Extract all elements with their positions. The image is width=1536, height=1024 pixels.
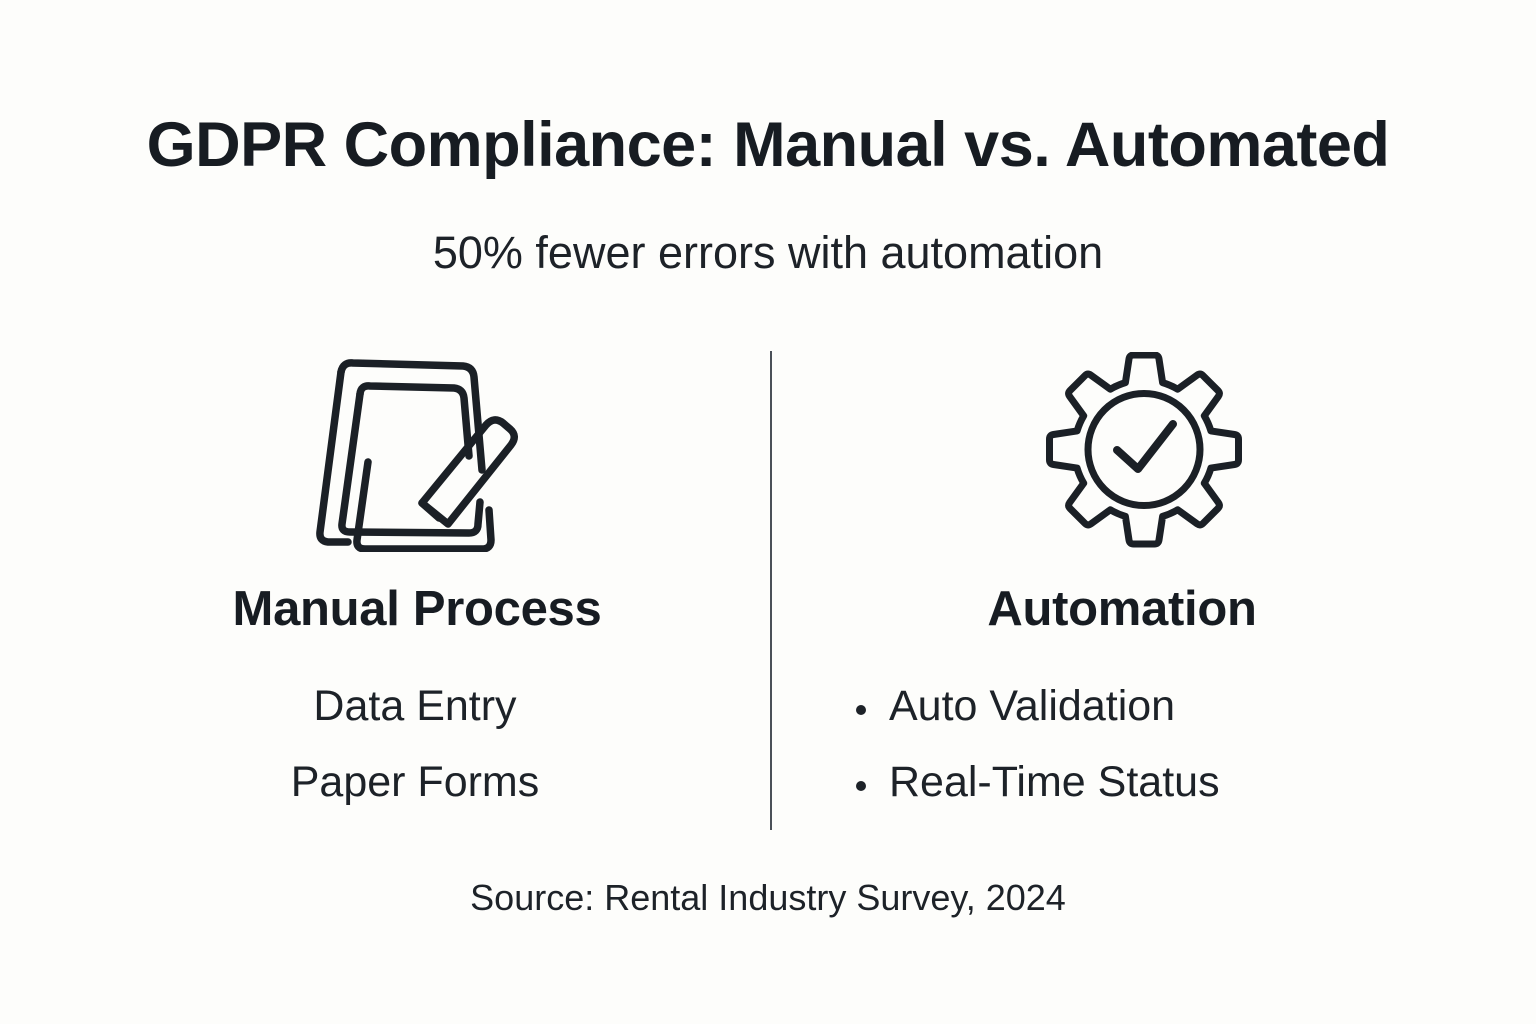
column-heading-automation: Automation: [772, 585, 1536, 634]
infographic-canvas: GDPR Compliance: Manual vs. Automated 50…: [0, 0, 1536, 1024]
list-item-label: Data Entry: [313, 685, 516, 728]
list-item-label: Auto Validation: [889, 685, 1175, 728]
column-automation: Automation Auto Validation Real-Time Sta…: [772, 340, 1472, 840]
item-list-manual: Data Entry Paper Forms: [64, 685, 770, 837]
page-subtitle: 50% fewer errors with automation: [0, 230, 1536, 275]
source-caption: Source: Rental Industry Survey, 2024: [0, 880, 1536, 916]
list-item: Paper Forms: [64, 761, 770, 837]
page-title: GDPR Compliance: Manual vs. Automated: [0, 114, 1536, 177]
gear-check-icon: [772, 352, 1494, 548]
list-item-label: Paper Forms: [291, 761, 540, 804]
list-item-label: Real-Time Status: [889, 761, 1220, 804]
tablet-stylus-icon: [64, 352, 774, 552]
list-item: Auto Validation: [772, 685, 1472, 761]
bullet-icon: [856, 781, 866, 791]
column-manual: Manual Process Data Entry Paper Forms: [64, 340, 770, 840]
column-heading-manual: Manual Process: [64, 585, 776, 634]
list-item: Data Entry: [64, 685, 770, 761]
list-item: Real-Time Status: [772, 761, 1472, 837]
item-list-automation: Auto Validation Real-Time Status: [772, 685, 1472, 837]
bullet-icon: [856, 705, 866, 715]
